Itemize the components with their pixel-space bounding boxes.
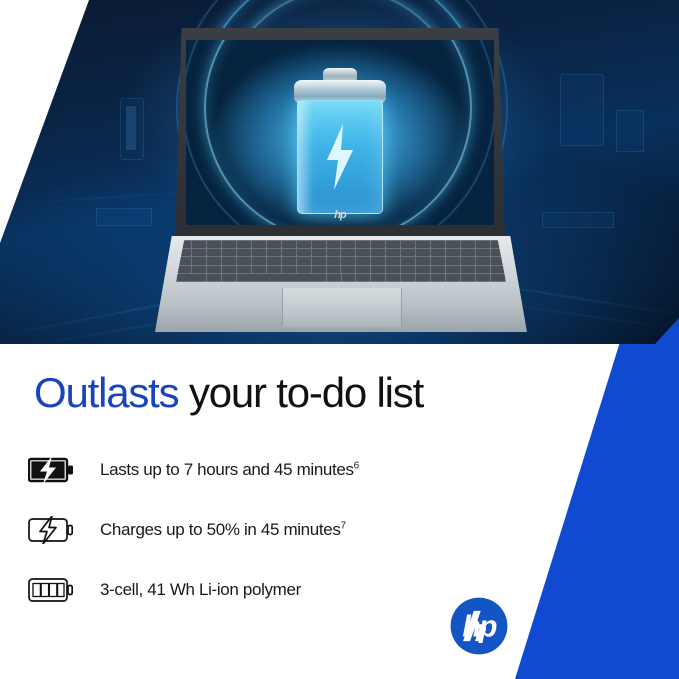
laptop-screen: hp [186,40,494,225]
footnote-marker: 7 [341,520,346,531]
footnote-marker: 6 [354,460,359,471]
headline-accent-word: Outlasts [34,369,178,416]
list-item-label: Lasts up to 7 hours and 45 minutes6 [100,460,359,480]
list-item-label: Charges up to 50% in 45 minutes7 [100,520,346,540]
laptop-trackpad [282,288,402,327]
headline-rest: your to-do list [178,369,423,416]
hero-image: hp [0,0,679,344]
lightning-bolt-icon [320,122,360,192]
list-item: Lasts up to 7 hours and 45 minutes6 [28,440,458,500]
page-title: Outlasts your to-do list [34,371,423,415]
battery-full-icon [28,576,82,604]
list-item: Charges up to 50% in 45 minutes7 [28,500,458,560]
battery-graphic [294,68,386,214]
hp-logo-icon: hp [450,597,508,655]
hero-background: hp [0,0,679,344]
battery-half-charging-icon [28,456,82,484]
screen-hp-watermark: hp [334,209,345,221]
list-item: 3-cell, 41 Wh Li-ion polymer [28,560,458,620]
list-item-label: 3-cell, 41 Wh Li-ion polymer [100,580,301,600]
marketing-card: hp [0,0,679,679]
svg-text:hp: hp [462,610,497,643]
feature-list: Lasts up to 7 hours and 45 minutes6 Char… [28,440,458,620]
battery-empty-charging-icon [28,516,82,544]
laptop-keyboard [176,240,506,282]
laptop-illustration: hp [0,0,679,344]
